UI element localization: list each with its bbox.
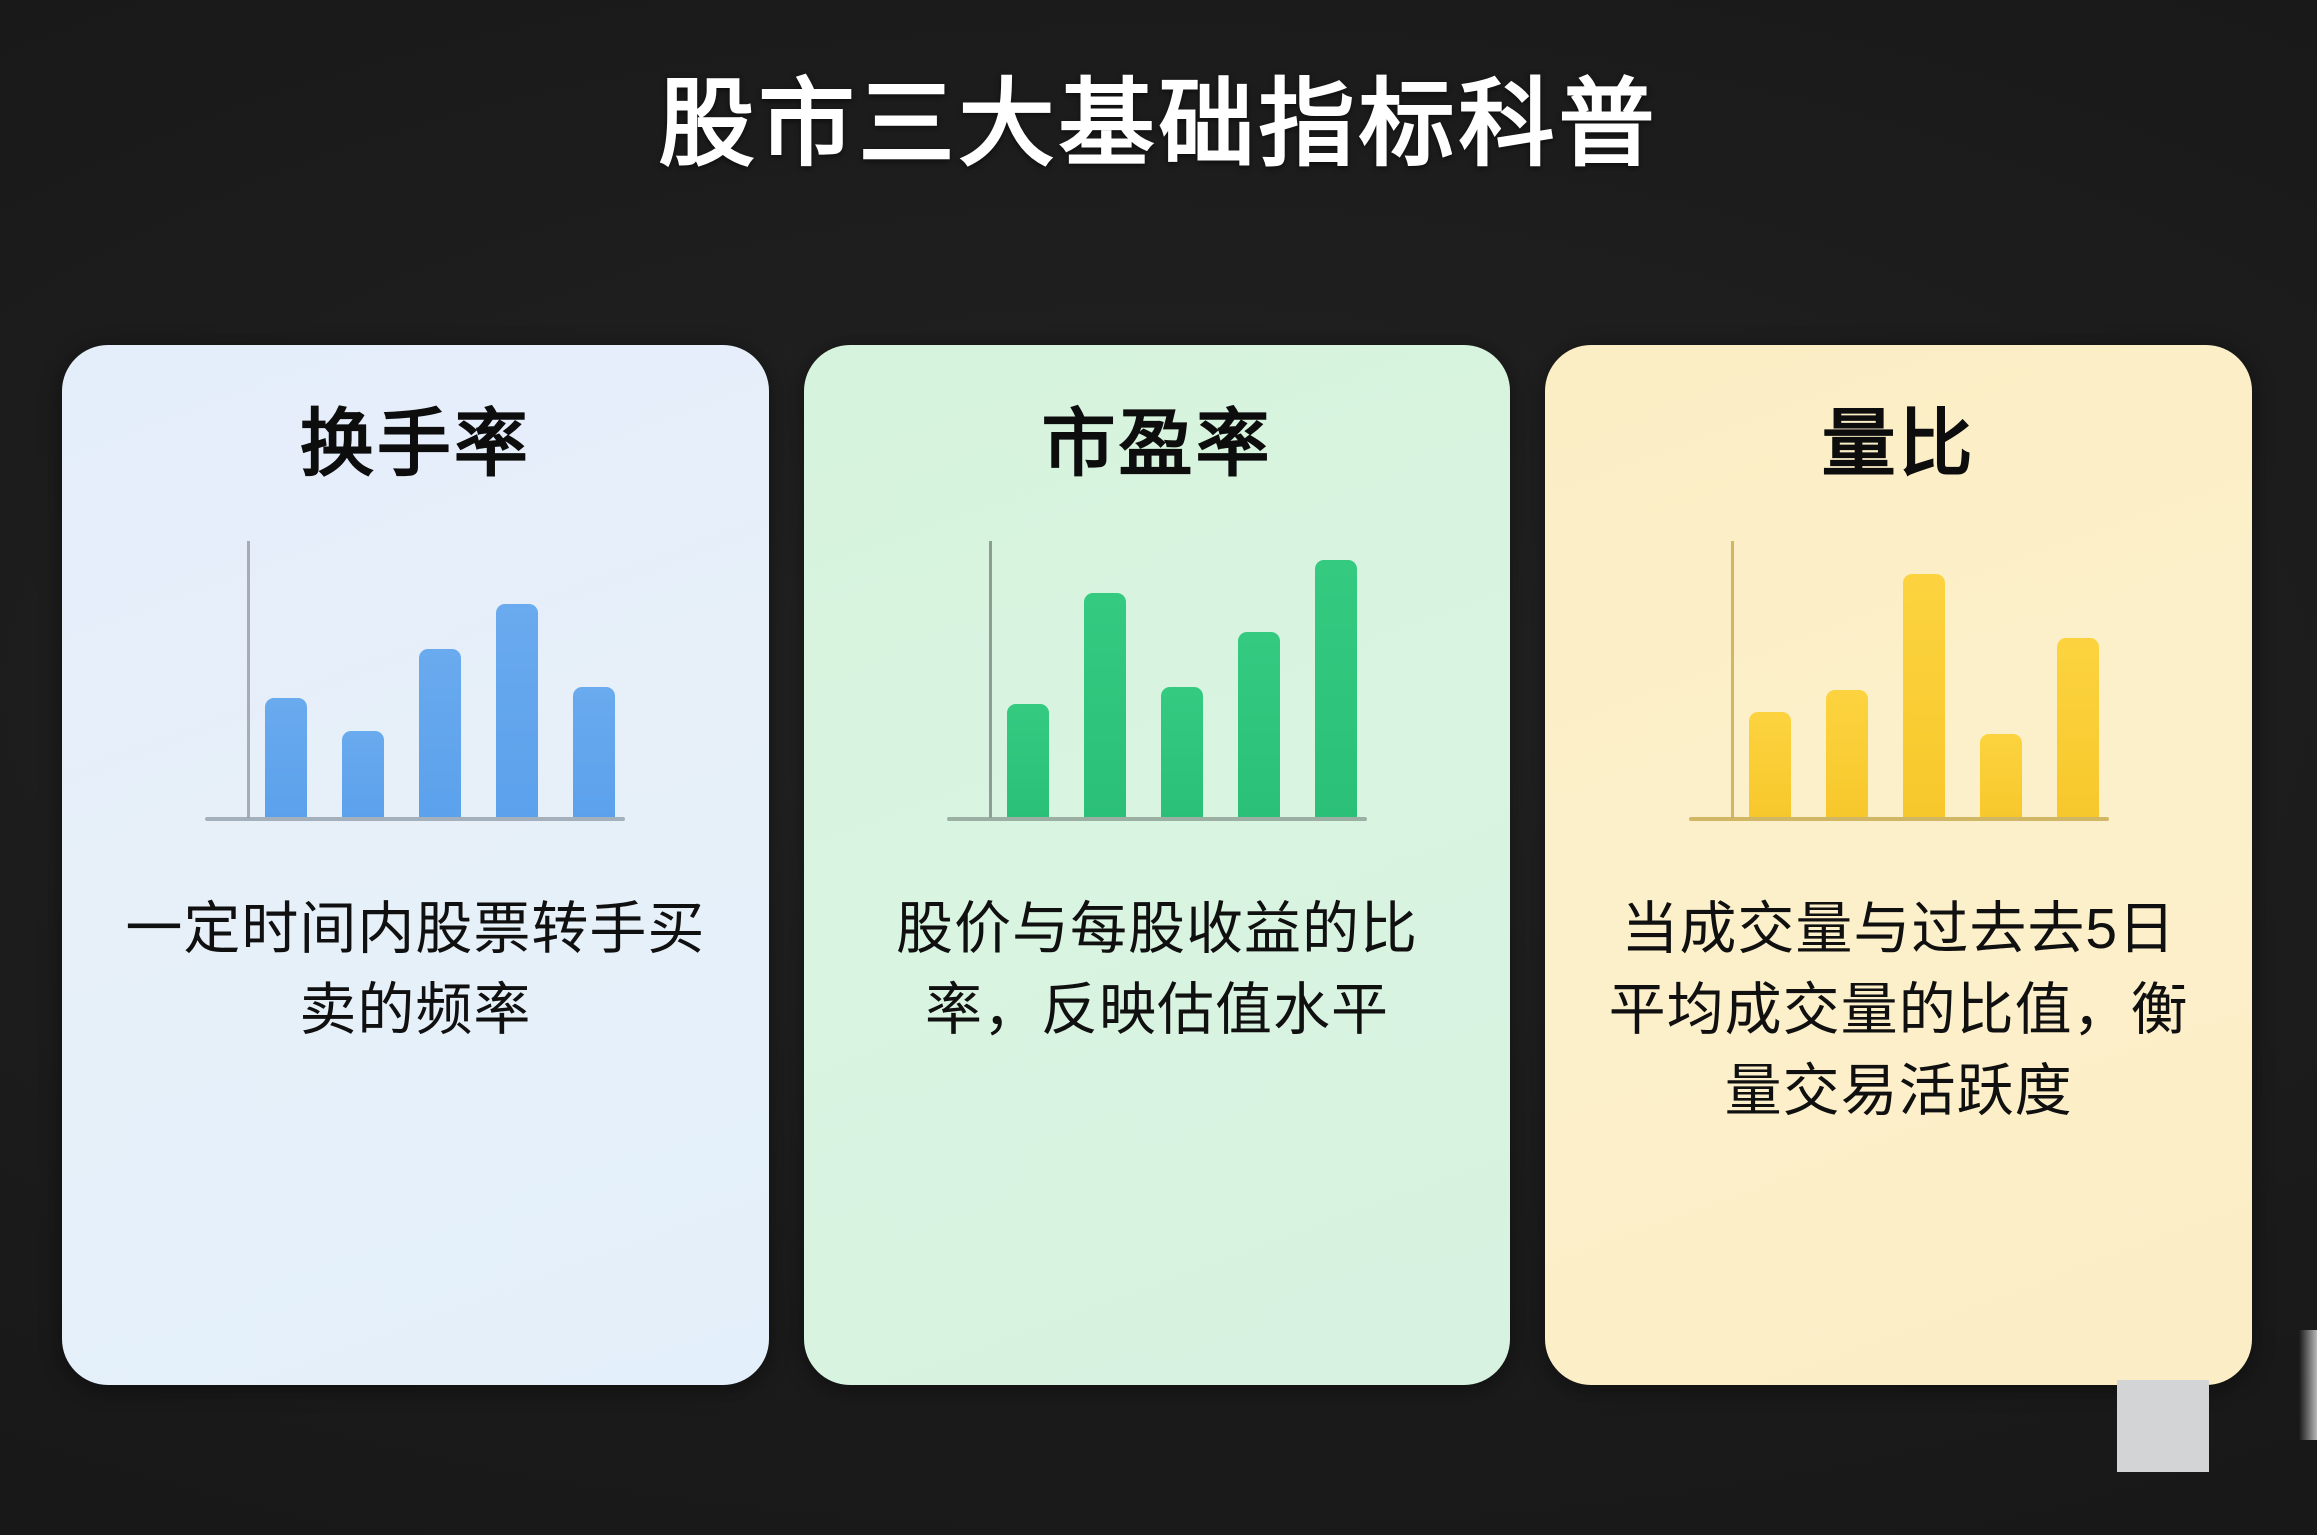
bar xyxy=(1749,712,1791,817)
bar xyxy=(573,687,615,817)
y-axis-line xyxy=(1731,541,1734,818)
bar-chart-volume-ratio xyxy=(1689,541,2109,821)
bar-group xyxy=(1749,541,2099,817)
bar xyxy=(1980,734,2022,817)
bar-group xyxy=(265,541,615,817)
bar xyxy=(342,731,384,817)
x-axis-line xyxy=(205,817,625,821)
bar xyxy=(265,698,307,817)
page-title: 股市三大基础指标科普 xyxy=(0,72,2317,178)
x-axis-line xyxy=(947,817,1367,821)
bar xyxy=(419,649,461,817)
bar xyxy=(1826,690,1868,817)
bar-chart-turnover-rate xyxy=(205,541,625,821)
bar xyxy=(1161,687,1203,817)
card-description: 一定时间内股票转手买卖的频率 xyxy=(111,889,719,1051)
card-description: 股价与每股收益的比率，反映估值水平 xyxy=(853,889,1461,1051)
card-title: 市盈率 xyxy=(1042,407,1273,481)
card-description: 当成交量与过去去5日平均成交量的比值，衡量交易活跃度 xyxy=(1595,889,2203,1132)
corner-swatch xyxy=(2117,1380,2209,1472)
y-axis-line xyxy=(989,541,992,818)
card-turnover-rate[interactable]: 换手率 一定时间内股票转手买卖的频率 xyxy=(62,345,769,1385)
card-pe-ratio[interactable]: 市盈率 股价与每股收益的比率，反映估值水平 xyxy=(804,345,1511,1385)
edge-glow xyxy=(2299,1330,2317,1440)
cards-row: 换手率 一定时间内股票转手买卖的频率 市盈率 xyxy=(62,345,2252,1385)
bar-chart-pe-ratio xyxy=(947,541,1367,821)
bar xyxy=(1315,560,1357,817)
y-axis-line xyxy=(247,541,250,818)
x-axis-line xyxy=(1689,817,2109,821)
slide-root: 股市三大基础指标科普 换手率 一定时间内股票转手买卖的频率 市盈率 xyxy=(0,0,2317,1535)
bar-group xyxy=(1007,541,1357,817)
bar xyxy=(1238,632,1280,817)
card-volume-ratio[interactable]: 量比 当成交量与过去去5日平均成交量的比值，衡量交易活跃度 xyxy=(1545,345,2252,1385)
bar xyxy=(1084,593,1126,817)
bar xyxy=(1007,704,1049,817)
bar xyxy=(496,604,538,817)
card-title: 换手率 xyxy=(300,407,531,481)
card-title: 量比 xyxy=(1822,407,1976,481)
bar xyxy=(2057,638,2099,817)
bar xyxy=(1903,574,1945,817)
